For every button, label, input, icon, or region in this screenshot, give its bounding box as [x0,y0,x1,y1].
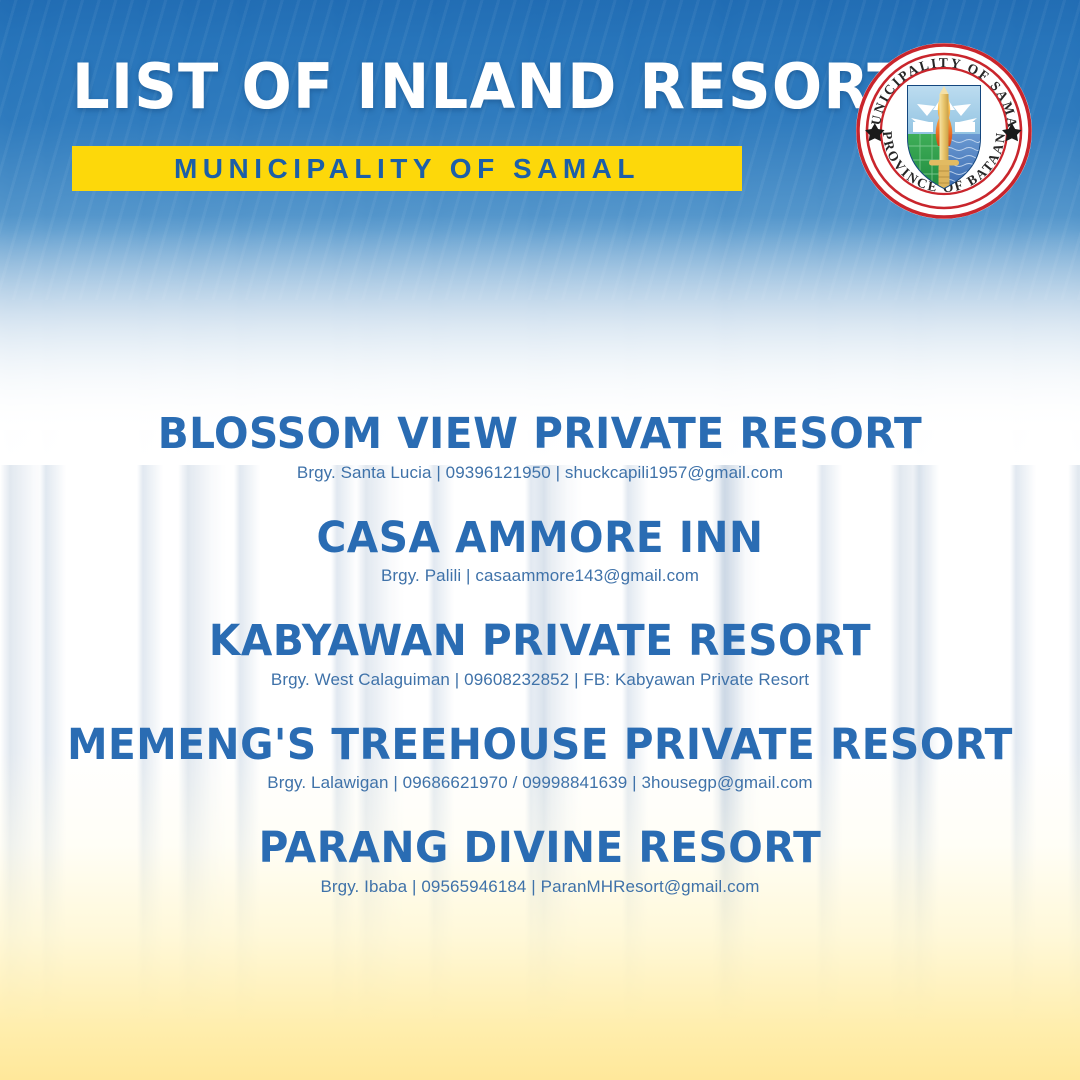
list-item: CASA AMMORE INN Brgy. Palili | casaammor… [0,516,1080,587]
resort-name: KABYAWAN PRIVATE RESORT [0,619,1080,665]
subtitle-banner: MUNICIPALITY OF SAMAL [72,146,742,191]
seal-icon: MUNICIPALITY OF SAMAL PROVINCE OF BATAAN [855,42,1033,220]
resort-name: CASA AMMORE INN [0,516,1080,562]
list-item: MEMENG'S TREEHOUSE PRIVATE RESORT Brgy. … [0,723,1080,794]
header-banner: LIST OF INLAND RESORT MUNICIPALITY OF SA… [0,0,1080,230]
resort-details: Brgy. Palili | casaammore143@gmail.com [0,566,1080,586]
list-item: BLOSSOM VIEW PRIVATE RESORT Brgy. Santa … [0,412,1080,483]
resort-details: Brgy. Lalawigan | 09686621970 / 09998841… [0,773,1080,793]
resort-name: PARANG DIVINE RESORT [0,826,1080,872]
list-item: PARANG DIVINE RESORT Brgy. Ibaba | 09565… [0,826,1080,897]
poster-canvas: LIST OF INLAND RESORT MUNICIPALITY OF SA… [0,0,1080,1080]
resort-details: Brgy. West Calaguiman | 09608232852 | FB… [0,670,1080,690]
resort-list: BLOSSOM VIEW PRIVATE RESORT Brgy. Santa … [0,412,1080,930]
subtitle-text: MUNICIPALITY OF SAMAL [174,153,640,185]
municipal-seal-logo: MUNICIPALITY OF SAMAL PROVINCE OF BATAAN [855,42,1033,220]
list-item: KABYAWAN PRIVATE RESORT Brgy. West Calag… [0,619,1080,690]
resort-name: BLOSSOM VIEW PRIVATE RESORT [0,412,1080,458]
resort-details: Brgy. Santa Lucia | 09396121950 | shuckc… [0,463,1080,483]
resort-name: MEMENG'S TREEHOUSE PRIVATE RESORT [0,723,1080,769]
resort-details: Brgy. Ibaba | 09565946184 | ParanMHResor… [0,877,1080,897]
page-title: LIST OF INLAND RESORT [72,56,909,118]
